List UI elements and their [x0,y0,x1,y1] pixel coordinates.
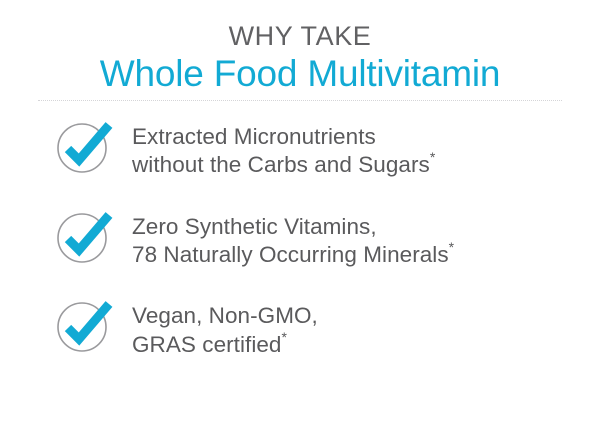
list-item-text: Vegan, Non-GMO, GRAS certified* [116,297,318,359]
benefits-list: Extracted Micronutrients without the Car… [0,118,600,359]
footnote-marker: * [282,329,287,345]
benefit-line-1: Zero Synthetic Vitamins, [132,213,454,241]
eyebrow-text: WHY TAKE [0,22,600,50]
list-item-text: Extracted Micronutrients without the Car… [116,118,435,180]
benefit-line-2-wrap: without the Carbs and Sugars* [132,151,435,179]
list-item-text: Zero Synthetic Vitamins, 78 Naturally Oc… [116,208,454,270]
page-title: Whole Food Multivitamin [0,52,600,96]
benefit-line-2-wrap: 78 Naturally Occurring Minerals* [132,241,454,269]
list-item: Vegan, Non-GMO, GRAS certified* [0,297,600,359]
product-benefits-poster: WHY TAKE Whole Food Multivitamin Extract… [0,0,600,422]
footnote-marker: * [430,149,435,165]
checkmark-circle-icon [56,210,116,268]
dotted-divider [38,100,562,102]
benefit-line-2: without the Carbs and Sugars [132,152,430,177]
list-item: Zero Synthetic Vitamins, 78 Naturally Oc… [0,208,600,270]
benefit-line-1: Extracted Micronutrients [132,123,435,151]
benefit-line-2-wrap: GRAS certified* [132,331,318,359]
benefit-line-2: 78 Naturally Occurring Minerals [132,242,449,267]
benefit-line-1: Vegan, Non-GMO, [132,302,318,330]
poster-header: WHY TAKE Whole Food Multivitamin [0,0,600,96]
checkmark-circle-icon [56,299,116,357]
checkmark-circle-icon [56,120,116,178]
benefit-line-2: GRAS certified [132,332,282,357]
footnote-marker: * [449,239,454,255]
list-item: Extracted Micronutrients without the Car… [0,118,600,180]
